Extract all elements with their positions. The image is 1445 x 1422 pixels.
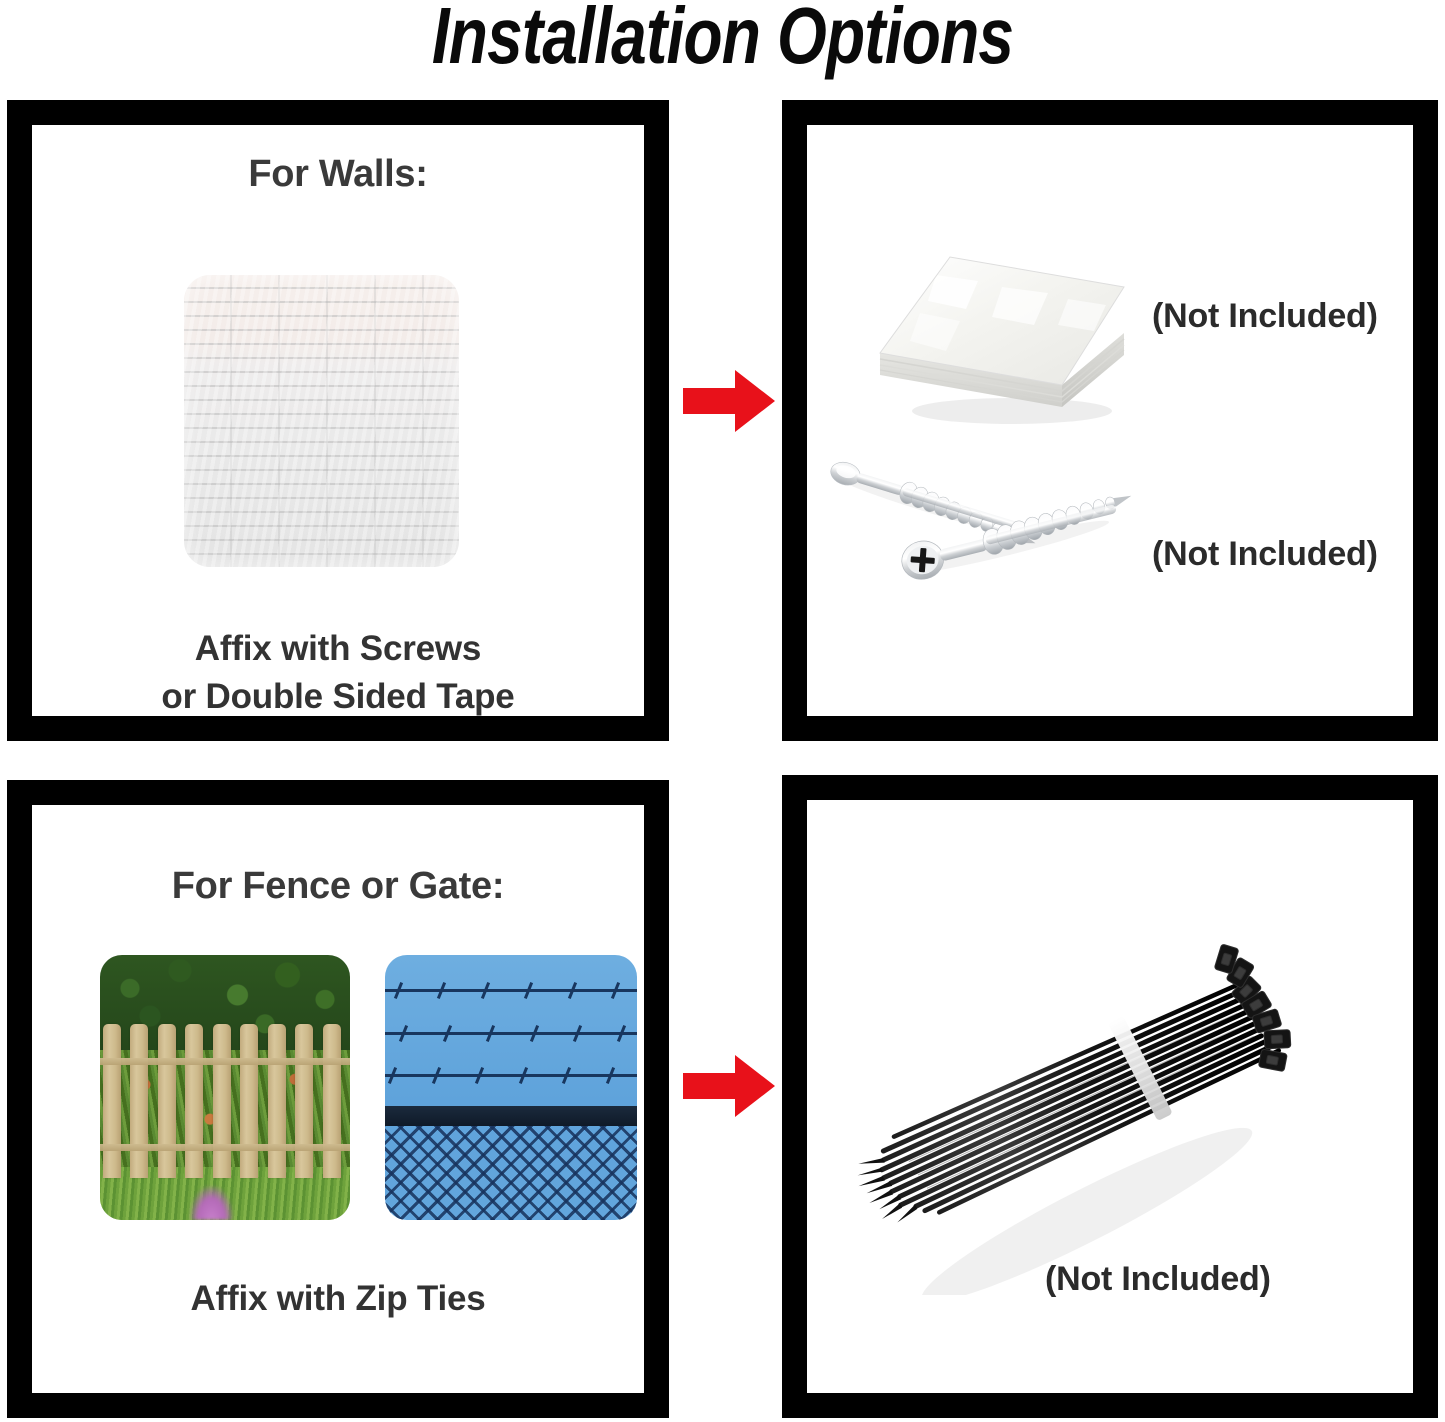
chain-link-fence-photo [385, 955, 637, 1220]
panel-for-walls-inner: For Walls: Affix with Screws or Double S… [32, 125, 644, 716]
panel-wall-hardware-inner: (Not Included) [807, 125, 1413, 716]
panel-for-fence-or-gate-inner: For Fence or Gate: [32, 805, 644, 1393]
zip-tie-bundle-image [837, 895, 1317, 1295]
fence-caption: Affix with Zip Ties [32, 1275, 644, 1322]
fence-slats [100, 1024, 350, 1178]
barbed-wire-2 [385, 1032, 637, 1035]
panel-wall-hardware: (Not Included) [782, 100, 1438, 741]
picket-fence-scene [100, 955, 350, 1220]
panel-for-walls: For Walls: Affix with Screws or Double S… [7, 100, 669, 741]
double-sided-tape-image [862, 235, 1137, 435]
white-brick-wall-image [184, 275, 459, 567]
fence-heading: For Fence or Gate: [32, 865, 644, 908]
arrow-right-icon-bottom [683, 1055, 775, 1117]
fence-top-rail [385, 1106, 637, 1126]
chain-link-mesh [385, 1126, 637, 1220]
zipties-not-included-label: (Not Included) [1045, 1260, 1271, 1299]
walls-heading: For Walls: [32, 153, 644, 196]
garden-path [190, 1186, 233, 1220]
walls-caption-line-2: or Double Sided Tape [32, 673, 644, 716]
barbed-wire-1 [385, 989, 637, 992]
barbed-wire-3 [385, 1074, 637, 1077]
chain-link-scene [385, 955, 637, 1220]
page-title: Installation Options [145, 0, 1301, 78]
arrow-right-icon-top [683, 370, 775, 432]
panel-for-fence-or-gate: For Fence or Gate: [7, 780, 669, 1418]
panel-zip-ties-inner: (Not Included) [807, 800, 1413, 1393]
wood-screws-image [817, 450, 1177, 635]
panel-zip-ties: (Not Included) [782, 775, 1438, 1418]
screws-not-included-label: (Not Included) [1152, 535, 1378, 574]
picket-fence-photo [100, 955, 350, 1220]
walls-caption-line-1: Affix with Screws [32, 625, 644, 672]
tape-not-included-label: (Not Included) [1152, 297, 1378, 336]
